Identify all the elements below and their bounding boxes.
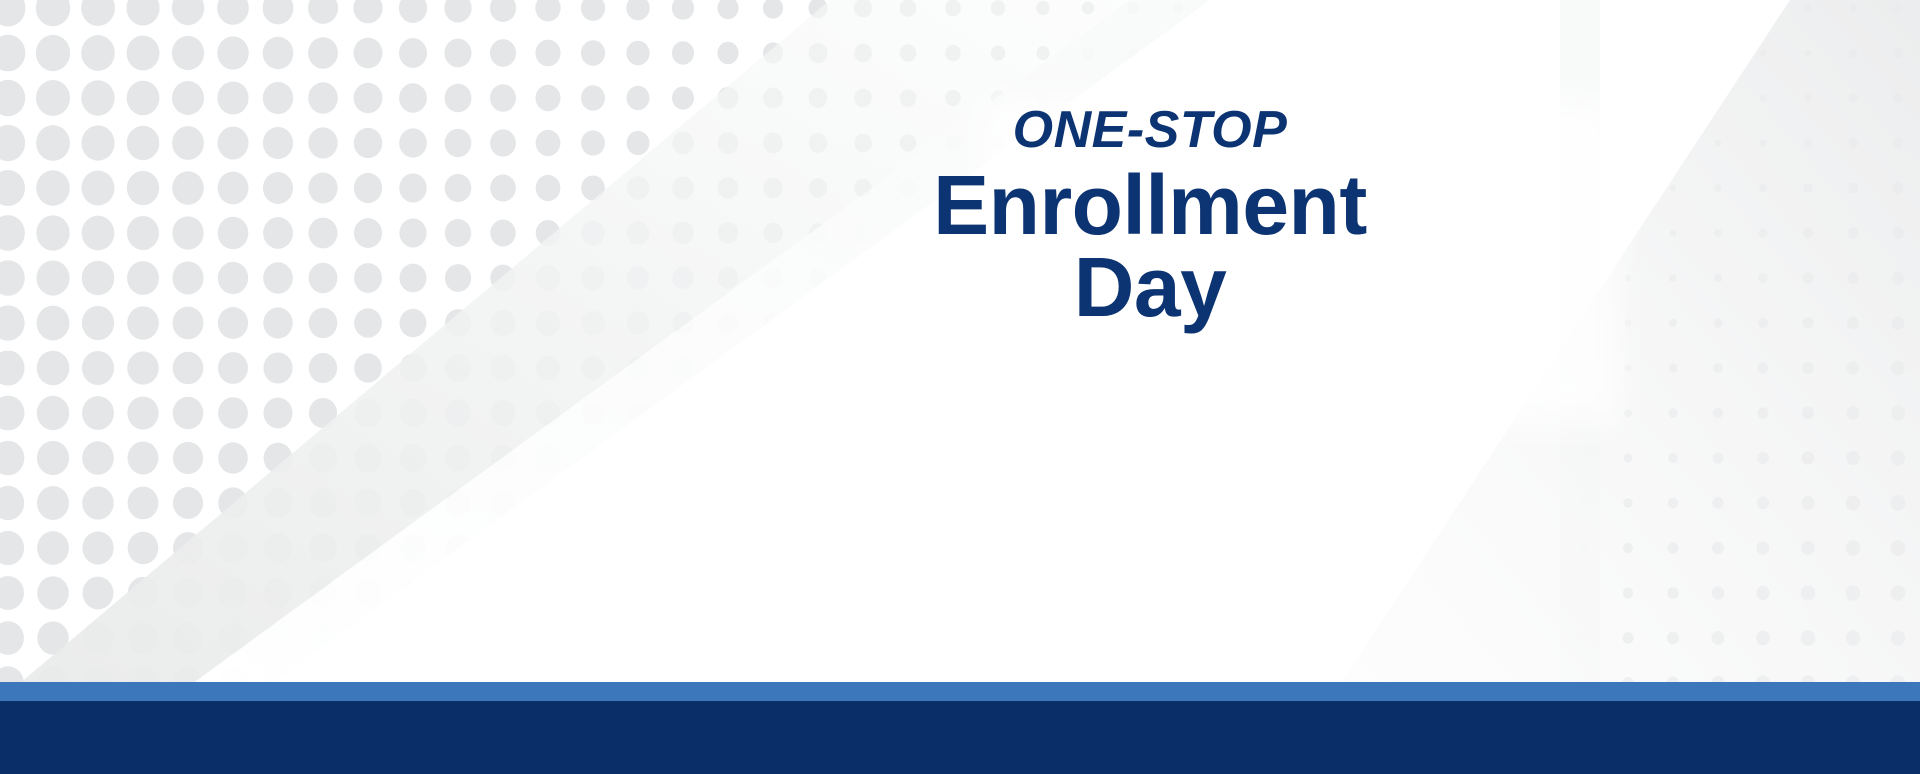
title-line-2: Day xyxy=(700,246,1600,328)
eyebrow-text: ONE-STOP xyxy=(700,104,1600,156)
headline-block: ONE-STOP Enrollment Day xyxy=(700,104,1600,329)
enrollment-day-banner: ONE-STOP Enrollment Day xyxy=(0,0,1920,774)
footer-bar xyxy=(0,701,1920,774)
title-line-1: Enrollment xyxy=(700,164,1600,246)
page-title: Enrollment Day xyxy=(700,164,1600,329)
accent-bar xyxy=(0,682,1920,701)
